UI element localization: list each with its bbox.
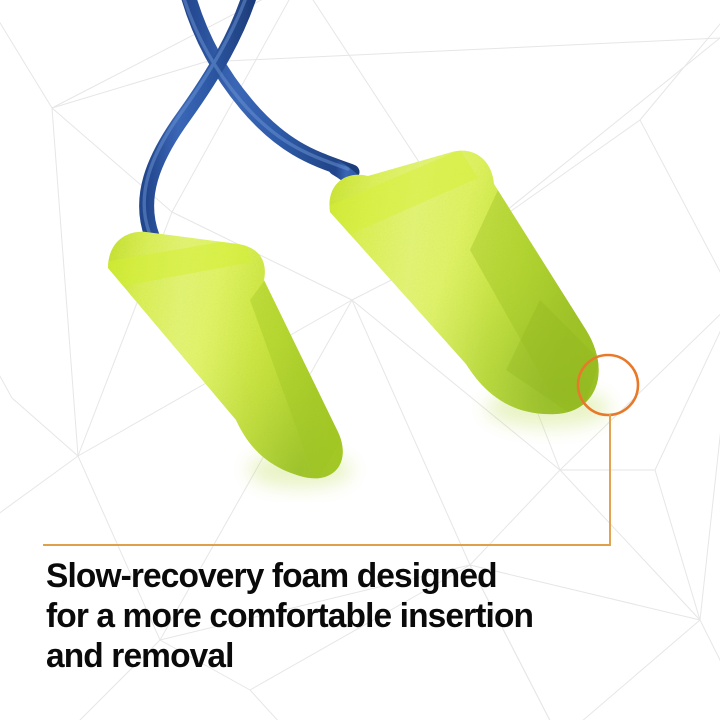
callout-leader-line bbox=[44, 415, 610, 545]
product-feature-image: Slow-recovery foam designed for a more c… bbox=[0, 0, 720, 720]
caption-block: Slow-recovery foam designed for a more c… bbox=[46, 556, 686, 676]
callout-circle bbox=[578, 355, 638, 415]
caption-line-3: and removal bbox=[46, 636, 676, 676]
caption-line-2: for a more comfortable insertion bbox=[46, 596, 676, 636]
caption-line-1: Slow-recovery foam designed bbox=[46, 556, 676, 596]
